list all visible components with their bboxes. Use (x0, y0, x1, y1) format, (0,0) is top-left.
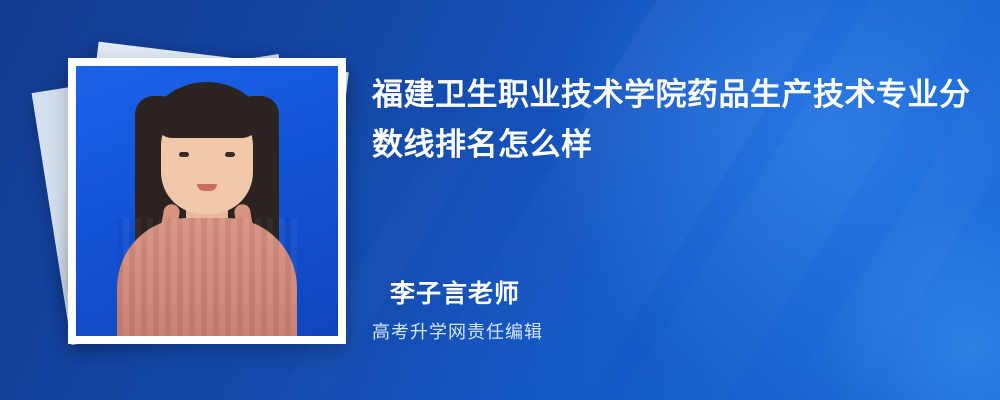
banner-text-block: 福建卫生职业技术学院药品生产技术专业分数线排名怎么样 李子言老师 高考升学网责任… (372, 0, 1000, 400)
portrait-eye-left (179, 152, 189, 157)
photo-stack (40, 30, 350, 360)
photo-frame-front (68, 58, 346, 344)
portrait-fringe (156, 90, 258, 138)
page-title: 福建卫生职业技术学院药品生产技术专业分数线排名怎么样 (372, 70, 972, 170)
portrait-dress (117, 218, 297, 336)
avatar (76, 66, 338, 336)
author-role: 高考升学网责任编辑 (372, 318, 543, 344)
portrait-dress-texture (117, 218, 297, 336)
portrait-eye-right (225, 152, 235, 157)
article-header-banner: 福建卫生职业技术学院药品生产技术专业分数线排名怎么样 李子言老师 高考升学网责任… (0, 0, 1000, 400)
author-name: 李子言老师 (390, 274, 520, 310)
